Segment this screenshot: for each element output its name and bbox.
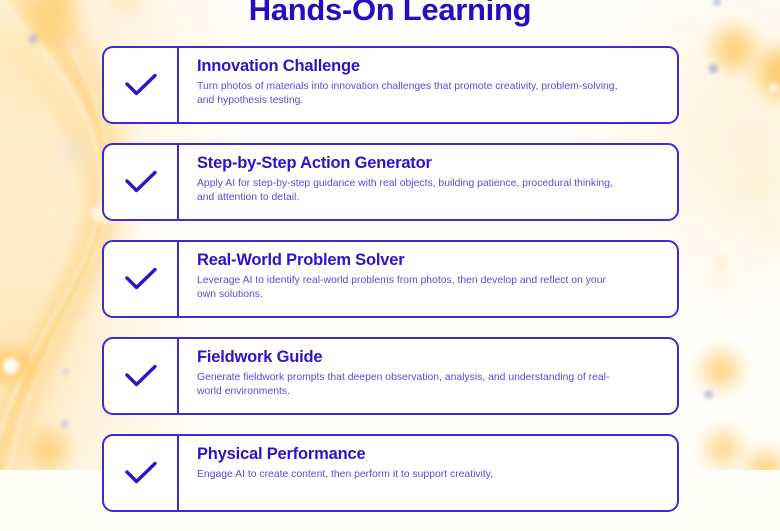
bokeh-orb bbox=[712, 272, 725, 285]
card-description: Leverage AI to identify real-world probl… bbox=[197, 274, 627, 301]
feature-card[interactable]: Step-by-Step Action Generator Apply AI f… bbox=[102, 143, 679, 221]
feature-card[interactable]: Fieldwork Guide Generate fieldwork promp… bbox=[102, 337, 679, 415]
card-title: Innovation Challenge bbox=[197, 57, 663, 76]
bokeh-orb bbox=[727, 192, 749, 214]
feature-card-list: Innovation Challenge Turn photos of mate… bbox=[102, 46, 679, 531]
bokeh-orb bbox=[706, 432, 740, 466]
bokeh-orb bbox=[64, 144, 80, 160]
card-body: Physical Performance Engage AI to create… bbox=[179, 436, 677, 510]
bokeh-orb bbox=[61, 420, 69, 428]
check-icon bbox=[124, 169, 158, 195]
card-title: Fieldwork Guide bbox=[197, 348, 663, 367]
feature-card[interactable]: Physical Performance Engage AI to create… bbox=[102, 434, 679, 512]
check-icon bbox=[124, 72, 158, 98]
card-title: Physical Performance bbox=[197, 445, 663, 464]
card-title: Step-by-Step Action Generator bbox=[197, 154, 663, 173]
card-description: Engage AI to create content, then perfor… bbox=[197, 468, 627, 482]
card-check-cell bbox=[104, 48, 179, 122]
bokeh-orb bbox=[709, 64, 718, 73]
card-description: Apply AI for step-by-step guidance with … bbox=[197, 177, 627, 204]
bokeh-orb bbox=[757, 48, 780, 98]
card-title: Real-World Problem Solver bbox=[197, 251, 663, 270]
check-icon bbox=[124, 363, 158, 389]
card-check-cell bbox=[104, 145, 179, 219]
card-body: Fieldwork Guide Generate fieldwork promp… bbox=[179, 339, 677, 413]
card-description: Generate fieldwork prompts that deepen o… bbox=[197, 371, 627, 398]
bokeh-orb bbox=[29, 34, 38, 43]
feature-card[interactable]: Innovation Challenge Turn photos of mate… bbox=[102, 46, 679, 124]
check-icon bbox=[124, 266, 158, 292]
card-body: Real-World Problem Solver Leverage AI to… bbox=[179, 242, 677, 316]
card-check-cell bbox=[104, 242, 179, 316]
card-body: Step-by-Step Action Generator Apply AI f… bbox=[179, 145, 677, 219]
bokeh-orb bbox=[3, 358, 19, 374]
card-check-cell bbox=[104, 339, 179, 413]
bokeh-orb bbox=[713, 28, 755, 70]
page-title: Hands-On Learning bbox=[0, 0, 780, 25]
bokeh-orb bbox=[28, 430, 68, 470]
feature-card[interactable]: Real-World Problem Solver Leverage AI to… bbox=[102, 240, 679, 318]
bokeh-orb bbox=[703, 352, 739, 388]
bokeh-orb bbox=[744, 172, 770, 198]
card-body: Innovation Challenge Turn photos of mate… bbox=[179, 48, 677, 122]
bokeh-orb bbox=[704, 390, 713, 399]
card-description: Turn photos of materials into innovation… bbox=[197, 80, 627, 107]
bokeh-orb bbox=[712, 253, 729, 270]
card-check-cell bbox=[104, 436, 179, 510]
bokeh-orb bbox=[770, 84, 778, 92]
bokeh-orb bbox=[757, 218, 780, 242]
check-icon bbox=[124, 460, 158, 486]
bokeh-orb bbox=[48, 210, 55, 217]
bokeh-orb bbox=[62, 368, 69, 375]
bokeh-orb bbox=[748, 452, 780, 470]
bokeh-orb bbox=[723, 300, 739, 316]
